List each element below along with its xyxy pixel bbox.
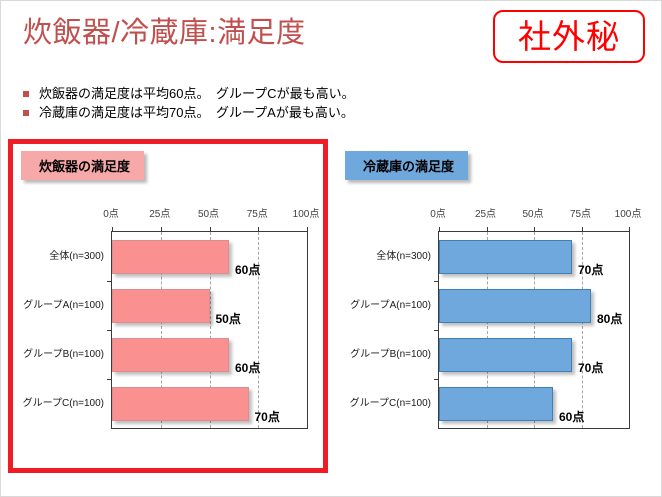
bar-value-rice-cooker-1: 50点 (216, 310, 241, 327)
bar-refrigerator-1 (439, 289, 591, 323)
x-tick-mark-0 (112, 227, 113, 232)
chart-title-rice-cooker: 炊飯器の満足度 (21, 151, 144, 180)
x-tick-mark-0 (439, 227, 440, 232)
x-tick-label-25: 25点 (149, 209, 170, 221)
bar-refrigerator-2 (439, 338, 572, 372)
x-tick-label-50: 50点 (198, 209, 219, 221)
bar-rice-cooker-0 (112, 240, 229, 274)
category-label-refrigerator-1: グループA(n=100) (350, 300, 431, 312)
y-tick-mark-1 (434, 281, 439, 282)
bar-value-refrigerator-2: 70点 (578, 359, 603, 376)
y-tick-mark-3 (107, 379, 112, 380)
plot-area-rice-cooker: 60点全体(n=300)50点グループA(n=100)60点グループB(n=10… (111, 231, 308, 429)
square-bullet-icon (23, 91, 29, 97)
page-title: 炊飯器/冷蔵庫:満足度 (23, 15, 306, 51)
bar-rice-cooker-3 (112, 387, 249, 421)
x-tick-label-75: 75点 (570, 209, 591, 221)
x-tick-label-50: 50点 (522, 209, 543, 221)
square-bullet-icon (23, 110, 29, 116)
confidential-stamp-label: 社外秘 (495, 20, 643, 54)
x-tick-label-0: 0点 (103, 209, 119, 221)
y-tick-mark-1 (107, 281, 112, 282)
bar-rice-cooker-2 (112, 338, 229, 372)
confidential-stamp: 社外秘 (493, 10, 645, 63)
x-tick-label-100: 100点 (615, 209, 642, 221)
bullet-list: 炊飯器の満足度は平均60点。 グループCが最も高い。 冷蔵庫の満足度は平均70点… (23, 85, 443, 123)
x-tick-label-75: 75点 (247, 209, 268, 221)
category-label-rice-cooker-3: グループC(n=100) (23, 398, 104, 410)
x-tick-label-0: 0点 (430, 209, 446, 221)
bar-value-refrigerator-0: 70点 (578, 261, 603, 278)
bar-rice-cooker-1 (112, 289, 210, 323)
x-axis-labels-refrigerator: 0点25点50点75点100点 (343, 209, 643, 225)
bar-value-rice-cooker-0: 60点 (235, 261, 260, 278)
plot-wrap-rice-cooker: 0点25点50点75点100点 60点全体(n=300)50点グループA(n=1… (19, 209, 319, 449)
y-tick-mark-2 (107, 330, 112, 331)
bar-value-rice-cooker-2: 60点 (235, 359, 260, 376)
category-label-refrigerator-0: 全体(n=300) (376, 251, 431, 263)
plot-area-refrigerator: 70点全体(n=300)80点グループA(n=100)70点グループB(n=10… (438, 231, 630, 429)
y-tick-mark-3 (434, 379, 439, 380)
bar-refrigerator-3 (439, 387, 553, 421)
bullet-text: 冷蔵庫の満足度は平均70点。 グループAが最も高い。 (39, 104, 354, 121)
plot-wrap-refrigerator: 0点25点50点75点100点 70点全体(n=300)80点グループA(n=1… (343, 209, 643, 449)
bar-value-rice-cooker-3: 70点 (255, 408, 280, 425)
x-tick-label-25: 25点 (475, 209, 496, 221)
category-label-refrigerator-2: グループB(n=100) (350, 349, 431, 361)
category-label-rice-cooker-0: 全体(n=300) (49, 251, 104, 263)
list-item: 炊飯器の満足度は平均60点。 グループCが最も高い。 (23, 85, 443, 102)
x-tick-mark-100 (307, 227, 308, 232)
slide-canvas: 炊飯器/冷蔵庫:満足度 社外秘 炊飯器の満足度は平均60点。 グループCが最も高… (0, 0, 662, 497)
bar-value-refrigerator-1: 80点 (597, 310, 622, 327)
x-axis-labels-rice-cooker: 0点25点50点75点100点 (19, 209, 319, 225)
x-tick-mark-100 (629, 227, 630, 232)
bar-refrigerator-0 (439, 240, 572, 274)
category-label-rice-cooker-2: グループB(n=100) (23, 349, 104, 361)
chart-title-refrigerator: 冷蔵庫の満足度 (345, 151, 468, 180)
x-tick-label-100: 100点 (293, 209, 320, 221)
bar-value-refrigerator-3: 60点 (559, 408, 584, 425)
list-item: 冷蔵庫の満足度は平均70点。 グループAが最も高い。 (23, 104, 443, 121)
category-label-rice-cooker-1: グループA(n=100) (23, 300, 104, 312)
category-label-refrigerator-3: グループC(n=100) (350, 398, 431, 410)
bullet-text: 炊飯器の満足度は平均60点。 グループCが最も高い。 (39, 85, 355, 102)
y-tick-mark-2 (434, 330, 439, 331)
